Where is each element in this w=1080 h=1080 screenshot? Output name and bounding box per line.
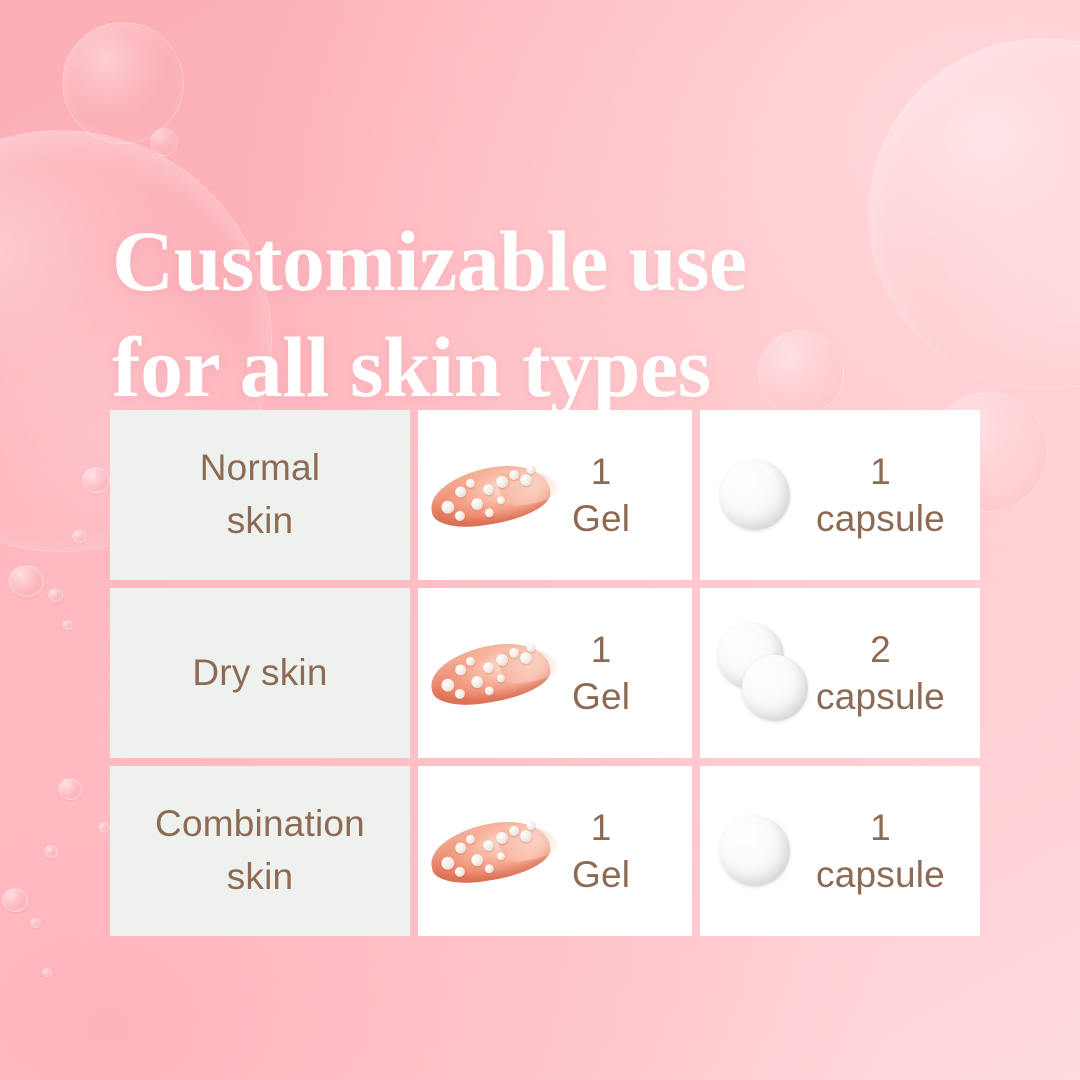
page-title: Customizable use for all skin types (112, 208, 972, 421)
gel-amount: 1 (572, 448, 630, 495)
table-row-1-gel-cell: 1 Gel (418, 410, 692, 580)
droplet-icon (44, 845, 58, 858)
table-row-3-capsule-cell: 1 capsule (700, 766, 980, 936)
capsule-amount: 2 (816, 626, 945, 673)
poster-canvas: Customizable use for all skin types Norm… (0, 0, 1080, 1080)
gel-unit: Gel (572, 851, 630, 898)
table-row-2-capsule-cell: 2 capsule (700, 588, 980, 758)
gel-amount: 1 (572, 626, 630, 673)
droplet-icon (8, 565, 44, 597)
skin-type-line-2: skin (227, 856, 294, 897)
droplet-icon (62, 620, 73, 630)
droplet-icon (98, 822, 110, 833)
capsule-dose-text: 2 capsule (816, 626, 945, 721)
usage-table: Normal skin (110, 410, 972, 936)
gel-swatch-icon (420, 621, 560, 726)
skin-type-label: Dry skin (192, 647, 327, 700)
gel-unit: Gel (572, 673, 630, 720)
skin-type-label: Normal skin (200, 442, 320, 547)
skin-type-line-1: Normal (200, 447, 320, 488)
capsule-dose-text: 1 capsule (816, 804, 945, 899)
gel-amount: 1 (572, 804, 630, 851)
gel-unit: Gel (572, 495, 630, 542)
skin-type-line-1: Combination (155, 803, 365, 844)
droplet-icon (82, 467, 110, 493)
table-row-2-gel-cell: 1 Gel (418, 588, 692, 758)
capsule-dose-text: 1 capsule (816, 448, 945, 543)
table-row-3-gel-cell: 1 Gel (418, 766, 692, 936)
table-row-1-capsule-cell: 1 capsule (700, 410, 980, 580)
skin-type-line-1: Dry skin (192, 652, 327, 693)
table-row-1-skin-type-cell: Normal skin (110, 410, 410, 580)
bubble-tiny-top (150, 128, 178, 156)
capsule-unit: capsule (816, 495, 945, 542)
skin-type-label: Combination skin (155, 798, 365, 903)
headline-line-2: for all skin types (112, 314, 972, 421)
gel-swatch-icon (420, 799, 560, 904)
skin-type-line-2: skin (227, 500, 294, 541)
droplet-icon (58, 778, 82, 800)
capsule-amount: 1 (816, 448, 945, 495)
capsule-unit: capsule (816, 673, 945, 720)
droplet-icon (2, 888, 28, 912)
table-row-3-skin-type-cell: Combination skin (110, 766, 410, 936)
gel-dose-text: 1 Gel (572, 626, 630, 721)
droplet-icon (72, 530, 86, 543)
bubble-top-small (62, 22, 184, 144)
table-row-2-skin-type-cell: Dry skin (110, 588, 410, 758)
capsule-icon (718, 799, 814, 903)
gel-dose-text: 1 Gel (572, 448, 630, 543)
gel-swatch-icon (420, 443, 560, 548)
gel-dose-text: 1 Gel (572, 804, 630, 899)
droplet-icon (30, 918, 41, 928)
droplet-icon (42, 968, 52, 977)
capsule-icon (718, 621, 814, 725)
headline-line-1: Customizable use (112, 208, 972, 315)
capsule-amount: 1 (816, 804, 945, 851)
capsule-unit: capsule (816, 851, 945, 898)
capsule-icon (718, 443, 814, 547)
droplet-icon (48, 588, 63, 602)
